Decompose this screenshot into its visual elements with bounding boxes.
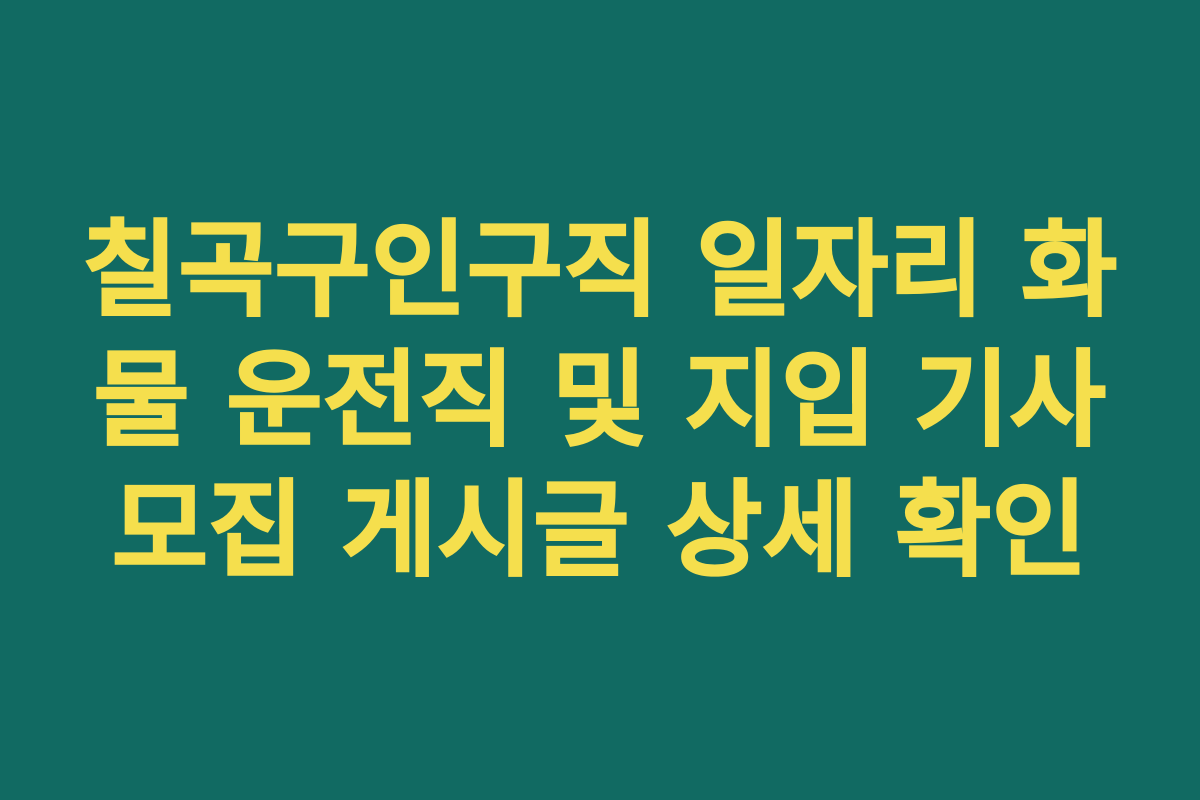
headline-line-3: 모집 게시글 상세 확인	[80, 465, 1120, 595]
banner-canvas: 칠곡구인구직 일자리 화 물 운전직 및 지입 기사 모집 게시글 상세 확인	[0, 0, 1200, 800]
page-title: 칠곡구인구직 일자리 화 물 운전직 및 지입 기사 모집 게시글 상세 확인	[80, 205, 1120, 595]
headline-line-1: 칠곡구인구직 일자리 화	[80, 205, 1120, 335]
headline-line-2: 물 운전직 및 지입 기사	[80, 335, 1120, 465]
